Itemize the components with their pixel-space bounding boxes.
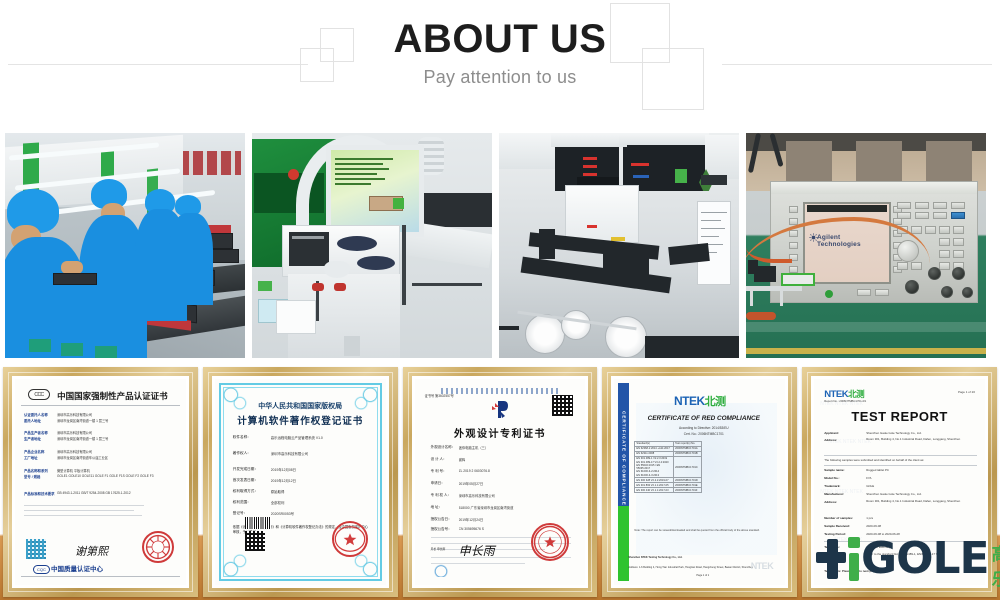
sw-row-1-value: 深圳市高乐科技有限公司: [271, 451, 370, 456]
sw-row-1-label: 著作权人：: [233, 451, 251, 456]
ccc-row-7-value: GOLE1 GOLE10 GOLE11 GOLE F1 GOLE F1S GOL…: [57, 474, 180, 478]
photo-aoi-inspection-machine[interactable]: [252, 133, 492, 358]
pat-row-7-label: 授权公告号：: [431, 527, 452, 532]
compliance-sidebar-text: CERTIFICATE OF COMPLIANCE: [618, 393, 629, 523]
ccc-row-0-value: 深圳市高乐科技有限公司: [57, 412, 180, 417]
report-page: Page 1 of 20: [958, 390, 975, 394]
sw-row-5-label: 权利范围：: [233, 500, 251, 505]
report-title: TEST REPORT: [814, 409, 985, 424]
sw-row-3-value: 2019年12月12日: [271, 478, 370, 483]
ccc-row-6-value: 微型计算机 平板计算机: [57, 468, 180, 473]
certificate-frame-ccc[interactable]: CCC 中国国家强制性产品认证证书 认证委托人名称 深圳市高乐科技有限公司 委托…: [3, 367, 198, 597]
copyright-red-seal: [332, 521, 368, 557]
rep-row-6-value: Shenzhen Gaole Gole Technology Co., Ltd.: [866, 492, 977, 496]
pat-row-3-label: 申请日：: [431, 481, 445, 486]
rep-row-4-value: F7A: [866, 476, 977, 480]
facility-photo-gallery: Agilent Technologies: [5, 133, 995, 358]
photo-smt-pick-and-place[interactable]: [499, 133, 739, 358]
pat-row-0-label: 外观设计名称：: [431, 445, 456, 450]
pat-row-5-value: 518000 广东省深圳市龙岗区南湾街道: [459, 505, 572, 510]
rep-row-1-label: Address:: [824, 438, 837, 442]
compliance-cell: 2006NTMBC1701C: [674, 457, 702, 478]
ccc-row-5-value: 深圳市龙岗区南湾街道车公庙工业区: [57, 455, 180, 460]
pat-row-2-value: ZL 2019 2 0603076.8: [459, 469, 572, 473]
ccc-row-6-label: 产品名称和系列: [24, 468, 48, 473]
patent-title: 外观设计专利证书: [415, 425, 586, 440]
patent-signature: 申长雨: [459, 542, 495, 559]
ccc-row-8-value: GB 4943.1-2011 GB/T 9254-2008 GB 17625.1…: [57, 491, 180, 495]
compliance-page: Page 1 of 1: [628, 574, 777, 577]
ntek-watermark: NTEK: [751, 561, 774, 571]
rep-row-5-value: GOLE: [866, 484, 977, 488]
cqc-mark: CQC: [33, 565, 50, 574]
pat-row-1-label: 设 计 人：: [431, 457, 447, 462]
ccc-row-5-label: 工厂地址: [24, 455, 38, 460]
ccc-row-8-label: 产品标准和技术要求: [24, 491, 55, 496]
page-header: ABOUT US Pay attention to us: [0, 0, 1000, 128]
patent-serial: 证书号 第3602557号: [425, 393, 454, 398]
compliance-title: CERTIFICATE OF RED COMPLIANCE: [628, 415, 779, 422]
ntek-wordmark-zh: 北测: [848, 389, 864, 399]
patent-office-logo: [489, 399, 511, 419]
pat-row-4-value: 深圳市高乐科技有限公司: [459, 493, 572, 498]
sw-row-2-label: 开发完成日期：: [233, 467, 258, 472]
rep-row-3-value: Rugged tablet PC: [866, 468, 977, 472]
ccc-row-4-value: 深圳市高乐科技有限公司: [57, 449, 180, 454]
certificate-frame-red-compliance[interactable]: CERTIFICATE OF COMPLIANCE NTEK北测 CERTIFI…: [602, 367, 797, 597]
sw-row-0-value: 高乐远程电脑云产品管理系统 V1.0: [271, 435, 370, 440]
sw-row-6-label: 登记号：: [233, 511, 247, 516]
higole-i-mark: [847, 537, 860, 581]
pat-row-3-value: 2019年05月27日: [459, 481, 572, 486]
rep-row-6-label: Manufacturer:: [824, 492, 844, 496]
sw-row-6-value: 2020SR0053号: [271, 511, 370, 516]
rep-row-5-label: Trademark:: [824, 484, 840, 488]
page-title: ABOUT US: [0, 16, 1000, 62]
photo-rf-test-instrument[interactable]: Agilent Technologies: [746, 133, 986, 358]
patent-qr-code: [552, 395, 573, 416]
pat-row-2-label: 专 利 号：: [431, 469, 447, 474]
sw-row-5-value: 全部权利: [271, 500, 370, 505]
ccc-row-2-label: 产品生产者名称: [24, 430, 48, 435]
ccc-row-1-label: 委托人地址: [24, 418, 41, 423]
rep-row-3-label: Sample name:: [824, 468, 844, 472]
ntek-wordmark: NTEK: [674, 394, 705, 408]
patent-red-seal: [531, 523, 569, 561]
pat-row-5-label: 地 址：: [431, 505, 442, 510]
compliance-company: Shenzhen NTEK Testing Technology Co., Lt…: [628, 556, 777, 559]
certificate-frame-design-patent[interactable]: 证书号 第3602557号 外观设计专利证书 外观设计名称： 迷你电脑主机（三）…: [403, 367, 598, 597]
copyright-barcode: [245, 517, 271, 529]
copyright-title: 计算机软件著作权登记证书: [215, 413, 386, 427]
rep-row-4-label: Model No.:: [824, 476, 839, 480]
report-number: Report No.: 2006NTMBC1701-R1: [824, 399, 866, 403]
ccc-row-2-value: 深圳市高乐科技有限公司: [57, 430, 180, 435]
higole-h-mark: [816, 539, 846, 579]
pat-row-0-value: 迷你电脑主机（三）: [459, 445, 572, 450]
patent-signature-label: 局长 申长雨: [431, 547, 446, 551]
higole-wordmark: GOLE: [861, 537, 989, 581]
copyright-qr-code: [245, 531, 265, 551]
ccc-issuer: 中国质量认证中心: [51, 563, 103, 573]
higole-logo: GOLE 高乐: [816, 524, 1000, 594]
ccc-row-0-label: 认证委托人名称: [24, 412, 48, 417]
compliance-table: Standard(s) Test report(s) No. EN 62368-…: [634, 441, 702, 493]
rep-row-8-label: Number of samples:: [824, 516, 853, 520]
compliance-directive: According to Directive: 2014/53/EU: [628, 426, 779, 430]
compliance-cell: EN 300 440 V2.1.1:2017-03: [635, 488, 674, 493]
rep-row-7-value: Room 301, Building 4, No.1 Industrial Ro…: [866, 500, 977, 504]
compliance-cert-no: Cert. No.: 2006NTMBC1701: [628, 432, 779, 436]
compliance-cell: 2006NTMBC1701F: [674, 488, 702, 493]
rep-row-7-label: Address:: [824, 500, 837, 504]
photo-assembly-line[interactable]: [5, 133, 245, 358]
sw-row-2-value: 2019年12月08日: [271, 467, 370, 472]
rep-row-1-value: Room 301, Building 4, No.1 Industrial Ro…: [866, 438, 977, 442]
sw-row-3-label: 首次发表日期：: [233, 478, 258, 483]
sw-row-4-label: 权利取得方式：: [233, 489, 258, 494]
higole-wordmark-zh: 高乐: [992, 540, 1000, 590]
compliance-note: Note: The report can be viewed/downloade…: [634, 529, 777, 532]
ccc-title: 中国国家强制性产品认证证书: [15, 390, 186, 402]
ccc-row-1-value: 深圳市龙岗区南湾街道一楼 1 层三号: [57, 418, 180, 423]
rep-row-0-value: Shenzhen Gaole Gole Technology Co., Ltd.: [866, 431, 977, 435]
page-subtitle: Pay attention to us: [0, 64, 1000, 90]
sw-row-4-value: 原始取得: [271, 489, 370, 494]
ccc-signature: 谢第熙: [75, 543, 108, 559]
copyright-authority: 中华人民共和国国家版权局: [215, 401, 386, 411]
ccc-red-seal: [142, 531, 174, 563]
pat-row-6-value: 2019年12月24日: [459, 517, 572, 522]
ccc-row-7-label: 型号 / 规格: [24, 474, 40, 479]
ccc-row-3-label: 生产者地址: [24, 436, 41, 441]
ccc-row-3-value: 深圳市龙岗区南湾街道一楼 1 层三号: [57, 436, 180, 441]
pat-row-6-label: 授权公告日：: [431, 517, 452, 522]
sw-row-0-label: 软件名称：: [233, 435, 251, 440]
rep-row-0-label: Applicant:: [824, 431, 839, 435]
ccc-row-4-label: 产品企业名称: [24, 449, 44, 454]
compliance-cell: EN 301 489-1 V2.2.3:2019 EN 301 489-17 V…: [635, 457, 674, 478]
ccc-qr-code: [26, 539, 46, 559]
ntek-wordmark-zh: 北测: [705, 396, 726, 408]
certificate-frame-software-copyright[interactable]: 中华人民共和国国家版权局 计算机软件著作权登记证书 软件名称： 高乐远程电脑云产…: [203, 367, 398, 597]
rep-row-2-value: The following samples were submitted and…: [824, 458, 977, 462]
rep-row-8-value: 1 pcs: [866, 516, 977, 520]
header-title-block: ABOUT US Pay attention to us: [0, 16, 1000, 90]
pat-row-4-label: 专 利 权 人：: [431, 493, 451, 498]
pat-row-1-value: 谢辉: [459, 457, 572, 462]
ntek-logo: NTEK北测: [614, 393, 785, 409]
